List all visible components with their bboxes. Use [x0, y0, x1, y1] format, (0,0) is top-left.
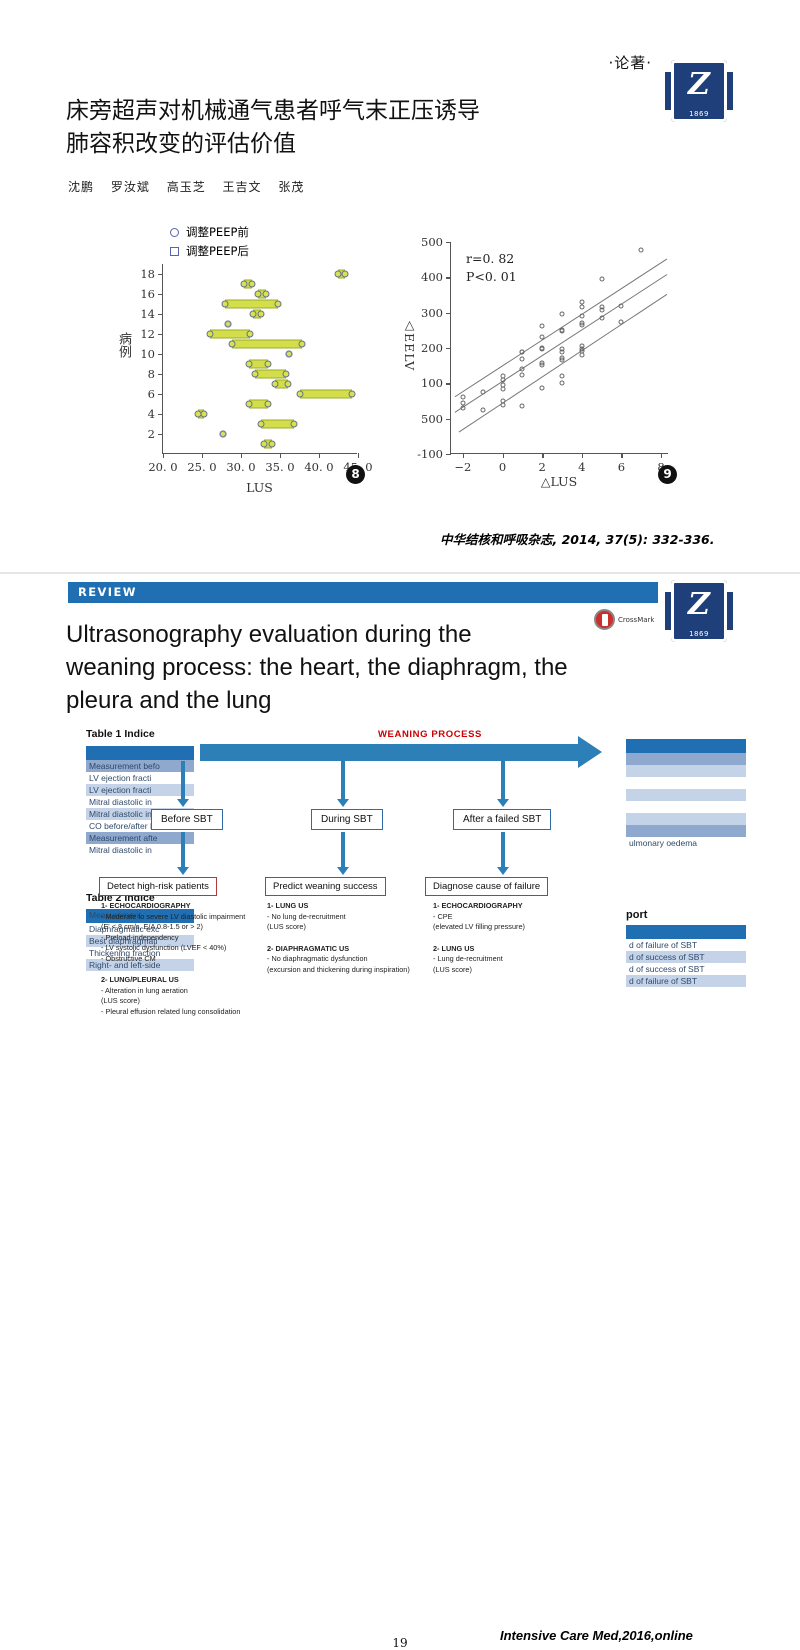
- x-axis-tick: [241, 453, 242, 458]
- chart-eelv-vs-lus: 500400300200100500-100−202468 r=0. 82 P<…: [388, 222, 690, 507]
- data-point: [559, 329, 564, 334]
- x-axis-tick-label: 2: [538, 460, 545, 474]
- data-point: [559, 381, 564, 386]
- x-axis-tick-label: 4: [578, 460, 585, 474]
- data-point: [297, 391, 304, 398]
- data-point: [540, 323, 545, 328]
- table-row: LV ejection fracti: [86, 772, 194, 784]
- source-citation: 中华结核和呼吸杂志, 2014, 37(5): 332-336.: [440, 529, 714, 548]
- goal-box-2: Predict weaning success: [265, 877, 386, 896]
- detail-line: (elevated LV filling pressure): [433, 922, 668, 933]
- y-axis-tick: [158, 334, 163, 335]
- review-title-line-3: pleura and the lung: [66, 684, 586, 717]
- table-row: [626, 765, 746, 777]
- data-point: [520, 404, 525, 409]
- data-point: [559, 311, 564, 316]
- data-point: [222, 301, 229, 308]
- data-point: [500, 402, 505, 407]
- y-axis-tick: [158, 434, 163, 435]
- data-point: [559, 373, 564, 378]
- y-axis-tick-label: 200: [421, 341, 443, 355]
- data-point: [252, 371, 259, 378]
- section-kicker: ·论著·: [608, 52, 652, 73]
- process-tick: [501, 761, 505, 770]
- y-axis-tick-label: 6: [148, 387, 155, 401]
- data-point: [334, 271, 341, 278]
- y-axis-tick-label: 14: [140, 307, 155, 321]
- x-axis-tick-label: 25. 0: [187, 460, 216, 474]
- page-title-line-1: 床旁超声对机械通气患者呼气末正压诱导: [66, 95, 686, 128]
- table-row: Measurement befo: [86, 760, 194, 772]
- y-axis-tick: [158, 394, 163, 395]
- x-axis-tick-label: 20. 0: [148, 460, 177, 474]
- connector-arrow-icon: [337, 799, 349, 807]
- table-row: [626, 739, 746, 753]
- y-axis-tick-label: 100: [421, 376, 443, 390]
- data-point: [579, 314, 584, 319]
- review-title-line-1: Ultrasonography evaluation during the: [66, 618, 586, 651]
- stage-box-2: During SBT: [311, 809, 383, 830]
- y-axis-title: 病例: [114, 332, 133, 358]
- data-point: [206, 331, 213, 338]
- data-point: [579, 300, 584, 305]
- figure-number-badge: 8: [346, 465, 365, 484]
- data-point: [245, 401, 252, 408]
- slide-article-english: REVIEW Z 1869 CrossMark Ultrasonography …: [0, 574, 800, 1131]
- x-axis-tick-label: 0: [499, 460, 506, 474]
- process-arrow-bar: [200, 744, 580, 761]
- data-point: [258, 311, 265, 318]
- page-title-line-2: 肺容积改变的评估价值: [66, 128, 686, 161]
- chart-legend: 调整PEEP前 调整PEEP后: [170, 224, 249, 262]
- y-axis-tick-label: 12: [140, 327, 155, 341]
- table-row: [626, 777, 746, 789]
- table-row: Mitral diastolic in: [86, 844, 194, 856]
- data-point: [559, 358, 564, 363]
- journal-logo-year: 1869: [671, 630, 727, 638]
- connector-arrow-icon: [497, 799, 509, 807]
- legend-circle-icon: [170, 228, 179, 237]
- data-point: [460, 400, 465, 405]
- author-name: 高玉芝: [167, 180, 206, 194]
- data-point-open: [286, 351, 292, 357]
- plot-area: 2468101214161820. 025. 030. 035. 040. 04…: [162, 264, 357, 454]
- connector-arrow-icon: [177, 867, 189, 875]
- x-axis-tick: [202, 453, 203, 458]
- x-axis-tick-label: −2: [454, 460, 471, 474]
- x-axis-tick: [358, 453, 359, 458]
- connector-line: [501, 770, 505, 799]
- y-axis-tick: [158, 354, 163, 355]
- crossmark-badge[interactable]: CrossMark: [594, 609, 654, 630]
- data-point: [275, 301, 282, 308]
- data-point: [520, 356, 525, 361]
- data-point: [579, 353, 584, 358]
- table-row: [626, 801, 746, 813]
- page-title: 床旁超声对机械通气患者呼气末正压诱导 肺容积改变的评估价值: [66, 95, 686, 161]
- data-point: [540, 334, 545, 339]
- figure-panel: 调整PEEP前 调整PEEP后 2468101214161820. 025. 0…: [110, 222, 690, 507]
- process-tick: [341, 761, 345, 770]
- connector-arrow-icon: [177, 799, 189, 807]
- y-axis-tick: [446, 454, 451, 455]
- table-row: ulmonary oedema: [626, 837, 746, 849]
- weaning-process-diagram: Table 1 Indice Table 2 Indice port Measu…: [78, 729, 738, 1069]
- table-row: [626, 813, 746, 825]
- data-point: [599, 276, 604, 281]
- y-axis-tick-label: 18: [140, 267, 155, 281]
- y-axis-tick-label: 500: [421, 412, 443, 426]
- y-axis-tick-label: 10: [140, 347, 155, 361]
- table-row: [626, 753, 746, 765]
- data-point: [228, 341, 235, 348]
- data-point: [619, 319, 624, 324]
- y-axis-tick-label: 2: [148, 427, 155, 441]
- x-axis-tick-label: 30. 0: [226, 460, 255, 474]
- detail-line: (LUS score): [433, 965, 668, 976]
- data-point: [269, 441, 276, 448]
- data-point: [559, 350, 564, 355]
- stage-box-3: After a failed SBT: [453, 809, 551, 830]
- data-point-open: [220, 431, 226, 437]
- review-title-line-2: weaning process: the heart, the diaphrag…: [66, 651, 586, 684]
- data-point: [579, 305, 584, 310]
- y-axis-tick-label: 8: [148, 367, 155, 381]
- author-name: 沈鹏: [68, 180, 94, 194]
- detail-line: - CPE: [433, 912, 668, 923]
- data-point: [480, 407, 485, 412]
- detail-line: (LUS score): [101, 996, 336, 1007]
- case-range-bar: [210, 330, 251, 339]
- x-axis-title: △LUS: [450, 474, 668, 489]
- data-point: [480, 390, 485, 395]
- data-point: [520, 372, 525, 377]
- table-row: Measurement afte: [86, 832, 194, 844]
- review-title: Ultrasonography evaluation during the we…: [66, 618, 586, 717]
- detail-line: - Pleural effusion related lung consolid…: [101, 1007, 336, 1018]
- case-range-bar: [261, 420, 294, 429]
- y-axis-tick: [158, 374, 163, 375]
- detail-heading: 2- LUNG US: [433, 944, 668, 955]
- goal-box-1: Detect high-risk patients: [99, 877, 217, 896]
- connector-line: [181, 770, 185, 799]
- data-point: [520, 350, 525, 355]
- author-name: 张茂: [278, 180, 304, 194]
- connector-arrow-icon: [497, 867, 509, 875]
- data-point: [201, 411, 208, 418]
- data-point-open: [225, 321, 231, 327]
- footer-citation: Intensive Care Med,2016,online: [500, 1628, 693, 1643]
- x-axis-tick-label: 6: [618, 460, 625, 474]
- legend-label: 调整PEEP前: [186, 224, 249, 240]
- y-axis-tick-label: 16: [140, 287, 155, 301]
- stage-box-1: Before SBT: [151, 809, 223, 830]
- connector-line: [341, 770, 345, 799]
- data-point: [250, 311, 257, 318]
- data-point: [258, 421, 265, 428]
- data-point: [298, 341, 305, 348]
- data-point: [460, 395, 465, 400]
- detail-gap: [433, 933, 668, 944]
- y-axis-title: △EELV: [402, 317, 417, 371]
- x-axis-tick-label: 40. 0: [304, 460, 333, 474]
- legend-entry: 调整PEEP前: [170, 224, 249, 240]
- data-point: [540, 346, 545, 351]
- data-point: [579, 323, 584, 328]
- data-point: [262, 291, 269, 298]
- data-point: [500, 386, 505, 391]
- y-axis-tick-label: -100: [417, 447, 443, 461]
- data-point: [500, 377, 505, 382]
- author-name: 罗汝斌: [111, 180, 150, 194]
- legend-square-icon: [170, 247, 179, 256]
- connector-arrow-icon: [337, 867, 349, 875]
- author-name: 王吉文: [223, 180, 262, 194]
- connector-line: [341, 832, 345, 867]
- y-axis-tick-label: 400: [421, 270, 443, 284]
- data-point: [540, 385, 545, 390]
- stat-p-value: P<0. 01: [466, 268, 517, 286]
- chart-lus-paired: 调整PEEP前 调整PEEP后 2468101214161820. 025. 0…: [110, 222, 388, 507]
- data-point: [599, 307, 604, 312]
- detail-line: - Lung de-recruitment: [433, 954, 668, 965]
- x-axis-tick: [280, 453, 281, 458]
- data-point: [255, 291, 262, 298]
- data-point: [348, 391, 355, 398]
- y-axis-tick-label: 4: [148, 407, 155, 421]
- process-tick: [181, 761, 185, 770]
- detail-block-3: 1- ECHOCARDIOGRAPHY- CPE(elevated LV fil…: [433, 901, 668, 975]
- data-point: [284, 381, 291, 388]
- x-axis-tick: [163, 453, 164, 458]
- x-axis-tick-label: 35. 0: [265, 460, 294, 474]
- stat-r-value: r=0. 82: [466, 250, 517, 268]
- data-point: [241, 281, 248, 288]
- data-point: [248, 281, 255, 288]
- table-row: d of failure of SBT: [626, 975, 746, 987]
- goal-box-3: Diagnose cause of failure: [425, 877, 548, 896]
- data-point: [619, 304, 624, 309]
- table-row: LV ejection fracti: [86, 784, 194, 796]
- legend-entry: 调整PEEP后: [170, 243, 249, 259]
- journal-logo-letter: Z: [671, 586, 727, 624]
- data-point: [272, 381, 279, 388]
- table-row: [626, 825, 746, 837]
- chart-stats-annotation: r=0. 82 P<0. 01: [466, 250, 517, 286]
- data-point: [341, 271, 348, 278]
- connector-line: [501, 832, 505, 867]
- data-point: [247, 331, 254, 338]
- crossmark-icon: [594, 609, 615, 630]
- y-axis-tick: [158, 314, 163, 315]
- journal-logo-icon: Z 1869: [671, 580, 727, 642]
- detail-heading: 1- ECHOCARDIOGRAPHY: [433, 901, 668, 912]
- data-point: [261, 441, 268, 448]
- y-axis-tick: [158, 414, 163, 415]
- case-range-bar: [255, 370, 286, 379]
- figure-number-badge: 9: [658, 465, 677, 484]
- background-table-3: ulmonary oedema: [626, 739, 746, 849]
- data-point: [520, 367, 525, 372]
- crossmark-label: CrossMark: [618, 616, 654, 624]
- connector-line: [181, 832, 185, 867]
- data-point: [599, 315, 604, 320]
- data-point: [283, 371, 290, 378]
- table1-caption: Table 1 Indice: [86, 728, 155, 740]
- data-point: [460, 406, 465, 411]
- review-banner: REVIEW: [68, 582, 658, 603]
- table-row: [626, 789, 746, 801]
- author-list: 沈鹏 罗汝斌 高玉芝 王吉文 张茂: [68, 178, 316, 195]
- case-range-bar: [225, 300, 278, 309]
- x-axis-tick: [319, 453, 320, 458]
- detail-line: - Alteration in lung aeration: [101, 986, 336, 997]
- data-point: [639, 247, 644, 252]
- data-point: [540, 362, 545, 367]
- table-row: [86, 746, 194, 760]
- slide-article-chinese: ·论著· Z 1869 床旁超声对机械通气患者呼气末正压诱导 肺容积改变的评估价…: [0, 0, 800, 572]
- data-point: [264, 401, 271, 408]
- process-arrow-head-icon: [578, 736, 602, 768]
- case-range-bar: [300, 390, 351, 399]
- detail-heading: 2- LUNG/PLEURAL US: [101, 975, 336, 986]
- y-axis-tick: [158, 274, 163, 275]
- data-point: [245, 361, 252, 368]
- legend-label: 调整PEEP后: [186, 243, 249, 259]
- case-range-bar: [232, 340, 302, 349]
- review-banner-label: REVIEW: [68, 582, 658, 603]
- x-axis-title: LUS: [162, 480, 357, 495]
- data-point: [291, 421, 298, 428]
- y-axis-tick-label: 500: [421, 235, 443, 249]
- y-axis-tick: [158, 294, 163, 295]
- process-title: WEANING PROCESS: [300, 729, 560, 740]
- y-axis-tick-label: 300: [421, 306, 443, 320]
- data-point: [264, 361, 271, 368]
